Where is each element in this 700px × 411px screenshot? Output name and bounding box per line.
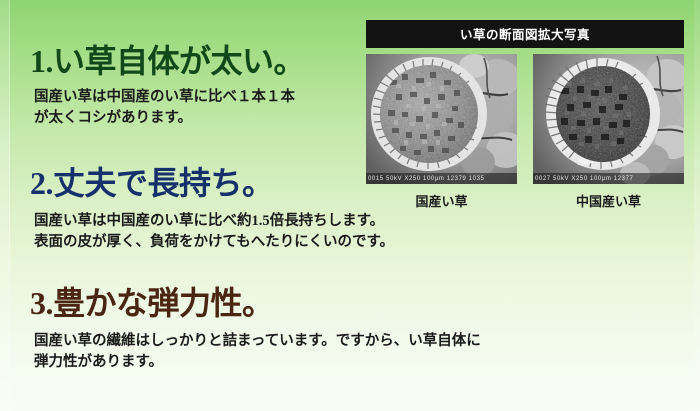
- section-3-heading: 3.豊かな弾力性。: [0, 286, 480, 321]
- sem-cross-section-photo: 0027 50kV X250 100µm 12377: [533, 54, 684, 184]
- photo-caption-domestic: 国産い草: [366, 191, 517, 210]
- photo-cell-domestic: 0015 50kV X250 100µm 12379 1035 国産い草: [366, 54, 517, 210]
- feature-section-3: 3.豊かな弾力性。 国産い草の繊維はしっかりと詰まっています。ですから、い草自体…: [0, 286, 480, 373]
- sem-scalebar-domestic: 0015 50kV X250 100µm 12379 1035: [366, 173, 517, 184]
- right-edge-highlight: [694, 0, 700, 411]
- photo-cell-chinese: 0027 50kV X250 100µm 12377 中国産い草: [533, 54, 684, 210]
- section-3-body-line-2: 弾力性があります。: [34, 352, 480, 373]
- photo-panel-title: い草の断面図拡大写真: [366, 20, 684, 48]
- photo-row: 0015 50kV X250 100µm 12379 1035 国産い草: [366, 54, 684, 210]
- section-2-body-line-1: 国産い草は中国産のい草に比べ約1.5倍長持ちします。: [34, 211, 480, 232]
- sem-scalebar-chinese: 0027 50kV X250 100µm 12377: [533, 173, 684, 184]
- section-2-body-line-2: 表面の皮が厚く、負荷をかけてもへたりにくいのです。: [34, 232, 480, 253]
- section-3-body: 国産い草の繊維はしっかりと詰まっています。ですから、い草自体に 弾力性があります…: [0, 331, 480, 373]
- section-2-body: 国産い草は中国産のい草に比べ約1.5倍長持ちします。 表面の皮が厚く、負荷をかけ…: [0, 211, 480, 253]
- photo-caption-chinese: 中国産い草: [533, 191, 684, 210]
- cross-section-photo-panel: い草の断面図拡大写真: [366, 20, 684, 210]
- promo-graphic: 1.い草自体が太い。 国産い草は中国産のい草に比べ１本１本 が太くコシがあります…: [0, 0, 700, 411]
- section-3-body-line-1: 国産い草の繊維はしっかりと詰まっています。ですから、い草自体に: [34, 331, 480, 352]
- sem-cross-section-photo: 0015 50kV X250 100µm 12379 1035: [366, 54, 517, 184]
